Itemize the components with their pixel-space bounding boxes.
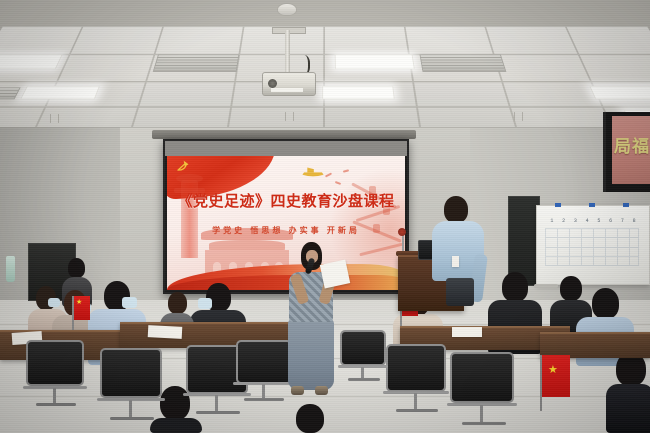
ceiling-light-panel bbox=[0, 54, 63, 69]
ceiling-light-panel bbox=[322, 86, 395, 99]
projector-lens bbox=[268, 79, 277, 88]
whiteboard-grid bbox=[545, 228, 639, 266]
whiteboard-numbers: 1 2 3 4 5 6 7 8 bbox=[546, 218, 640, 224]
ceiling-light-panel bbox=[20, 86, 100, 99]
document-on-table bbox=[452, 327, 482, 337]
presenter-skirt bbox=[288, 318, 334, 390]
ceiling-hook bbox=[285, 112, 294, 121]
audience-member bbox=[288, 404, 334, 433]
whiteboard[interactable]: 1 2 3 4 5 6 7 8 bbox=[536, 205, 650, 285]
document-on-table bbox=[148, 325, 183, 339]
projection-screen[interactable]: 《党史足迹》四史教育沙盘课程 学党史 悟思想 办实事 开新局 bbox=[163, 139, 409, 294]
slide-subtitle: 学党史 悟思想 办实事 开新局 bbox=[167, 225, 405, 236]
desk-chinese-flag: ★ bbox=[540, 355, 570, 411]
presentation-slide: 《党史足迹》四史教育沙盘课程 学党史 悟思想 办实事 开新局 bbox=[167, 156, 405, 290]
wall-banner: 局福 bbox=[612, 116, 650, 184]
water-bottle bbox=[6, 256, 15, 282]
ceiling-grid bbox=[0, 26, 650, 127]
smoke-detector bbox=[277, 3, 297, 16]
conference-room-photo: 《党史足迹》四史教育沙盘课程 学党史 悟思想 办实事 开新局 1 2 3 4 5… bbox=[0, 0, 650, 433]
ceiling-light-panel bbox=[589, 86, 650, 99]
whiteboard-magnet bbox=[623, 203, 629, 207]
office-chair[interactable] bbox=[450, 352, 514, 430]
office-chair[interactable] bbox=[100, 348, 162, 424]
whiteboard-number: 2 bbox=[562, 218, 565, 224]
presenter-shoe bbox=[291, 386, 304, 395]
ceiling-hook bbox=[514, 112, 523, 121]
podium-badge bbox=[452, 256, 459, 267]
whiteboard-number: 8 bbox=[633, 218, 636, 224]
man-at-podium bbox=[432, 196, 484, 306]
projector-pole bbox=[285, 30, 290, 75]
wall-banner-text: 局福 bbox=[614, 132, 650, 157]
whiteboard-number: 3 bbox=[574, 218, 577, 224]
audience-member bbox=[606, 352, 650, 433]
office-chair[interactable] bbox=[26, 340, 84, 410]
desk-chinese-flag: ★ bbox=[72, 296, 90, 330]
whiteboard-number: 7 bbox=[621, 218, 624, 224]
office-chair[interactable] bbox=[340, 330, 386, 384]
whiteboard-magnet bbox=[555, 203, 561, 207]
podium-microphone bbox=[398, 228, 406, 236]
office-chair[interactable] bbox=[236, 340, 292, 406]
air-vent bbox=[153, 54, 240, 71]
screen-roller-case bbox=[152, 130, 416, 139]
air-vent bbox=[420, 54, 507, 71]
ceiling-light-panel bbox=[335, 54, 415, 69]
whiteboard-number: 6 bbox=[609, 218, 612, 224]
red-boat-icon bbox=[300, 165, 326, 178]
ceiling-hook bbox=[50, 114, 59, 123]
screen-letterbox bbox=[165, 141, 407, 156]
hammer-sickle-icon bbox=[175, 160, 190, 174]
slide-title: 《党史足迹》四史教育沙盘课程 bbox=[167, 190, 405, 211]
whiteboard-number: 4 bbox=[586, 218, 589, 224]
whiteboard-number: 5 bbox=[597, 218, 600, 224]
whiteboard-magnet bbox=[589, 203, 595, 207]
wall-banner-frame: 局福 bbox=[603, 112, 650, 192]
presenter-shoe bbox=[315, 386, 328, 395]
whiteboard-number: 1 bbox=[550, 218, 553, 224]
office-chair[interactable] bbox=[386, 344, 446, 416]
